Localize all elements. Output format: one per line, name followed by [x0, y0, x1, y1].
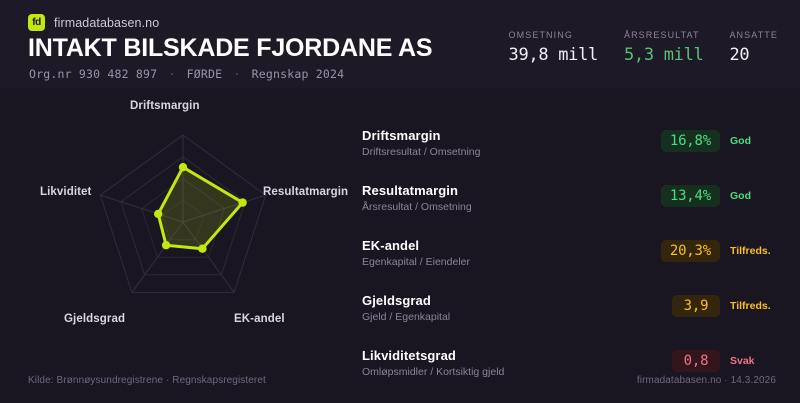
stat-omsetning: OMSETNING 39,8 mill	[509, 30, 598, 65]
header: fd firmadatabasen.no INTAKT BILSKADE FJO…	[0, 0, 800, 88]
metric-list: Driftsmargin Driftsresultat / Omsetning …	[362, 128, 782, 403]
axis-label-driftsmargin: Driftsmargin	[130, 100, 200, 112]
company-meta: Org.nr 930 482 897 · FØRDE · Regnskap 20…	[29, 67, 344, 81]
axis-label-resultatmargin: Resultatmargin	[263, 186, 348, 198]
stat-label: ÅRSRESULTAT	[624, 30, 703, 40]
stat-label: OMSETNING	[509, 30, 598, 40]
metric-row[interactable]: Resultatmargin Årsresultat / Omsetning 1…	[362, 183, 782, 223]
metric-value-badge: 13,4%	[661, 185, 720, 207]
stat-label: ANSATTE	[729, 30, 778, 40]
metric-value-badge: 20,3%	[661, 240, 720, 262]
fd-logo-icon: fd	[28, 14, 45, 31]
meta-separator-2: ·	[229, 67, 244, 81]
radar-series-area	[158, 167, 242, 249]
header-stats: OMSETNING 39,8 mill ÅRSRESULTAT 5,3 mill…	[509, 30, 778, 65]
footer-source: Kilde: Brønnøysundregistrene · Regnskaps…	[28, 375, 266, 386]
stat-value: 39,8 mill	[509, 45, 598, 65]
metric-row[interactable]: Gjeldsgrad Gjeld / Egenkapital 3,9 Tilfr…	[362, 293, 782, 333]
metric-row[interactable]: Driftsmargin Driftsresultat / Omsetning …	[362, 128, 782, 168]
axis-label-ek-andel: EK-andel	[234, 313, 285, 325]
metric-verdict: Tilfreds.	[730, 300, 782, 312]
axis-label-gjeldsgrad: Gjeldsgrad	[64, 313, 125, 325]
metric-row[interactable]: EK-andel Egenkapital / Eiendeler 20,3% T…	[362, 238, 782, 278]
footer: Kilde: Brønnøysundregistrene · Regnskaps…	[0, 366, 800, 400]
page-title: INTAKT BILSKADE FJORDANE AS	[28, 34, 432, 63]
stat-value: 5,3 mill	[624, 45, 703, 65]
brand-name: firmadatabasen.no	[54, 16, 159, 30]
stat-ansatte: ANSATTE 20	[729, 30, 778, 65]
stat-value: 20	[729, 45, 778, 65]
axis-label-likviditet: Likviditet	[40, 186, 91, 198]
metric-right: 20,3% Tilfreds.	[661, 240, 782, 262]
metric-verdict: God	[730, 190, 782, 202]
company-place: FØRDE	[187, 67, 223, 81]
footer-credit: firmadatabasen.no · 14.3.2026	[637, 375, 776, 386]
metric-verdict: God	[730, 135, 782, 147]
metric-right: 16,8% God	[661, 130, 782, 152]
report-card: fd firmadatabasen.no INTAKT BILSKADE FJO…	[0, 0, 800, 400]
org-number: Org.nr 930 482 897	[29, 67, 157, 81]
metric-verdict: Tilfreds.	[730, 245, 782, 257]
brand[interactable]: fd firmadatabasen.no	[28, 14, 159, 31]
radar-chart: Driftsmargin Resultatmargin EK-andel Gje…	[0, 88, 360, 356]
metric-value-badge: 3,9	[672, 295, 720, 317]
radar-svg	[0, 88, 360, 356]
metric-right: 13,4% God	[661, 185, 782, 207]
accounting-year: Regnskap 2024	[252, 67, 345, 81]
metric-right: 3,9 Tilfreds.	[672, 295, 782, 317]
stat-arsresultat: ÅRSRESULTAT 5,3 mill	[624, 30, 703, 65]
metric-value-badge: 16,8%	[661, 130, 720, 152]
meta-separator-1: ·	[164, 67, 179, 81]
